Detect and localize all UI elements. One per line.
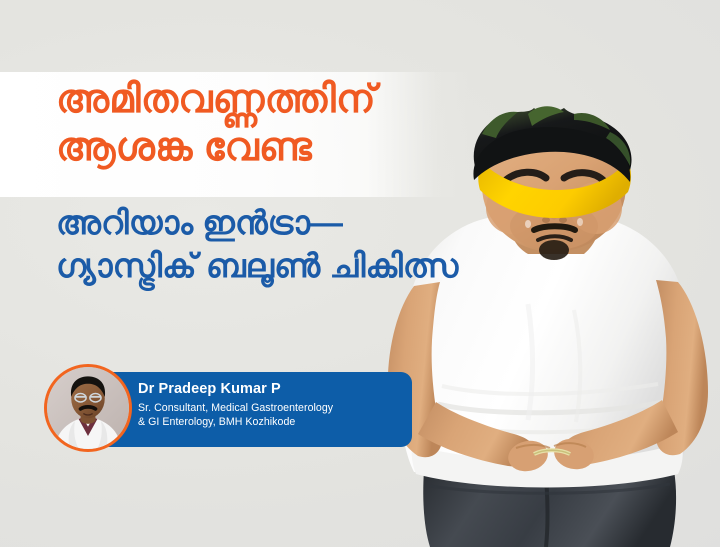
doctor-designation: Sr. Consultant, Medical Gastroenterology… xyxy=(138,402,398,430)
doctor-credit: Dr Pradeep Kumar P Sr. Consultant, Medic… xyxy=(44,364,412,454)
avatar xyxy=(44,364,132,452)
doctor-name: Dr Pradeep Kumar P xyxy=(138,381,398,398)
doctor-credit-card: Dr Pradeep Kumar P Sr. Consultant, Medic… xyxy=(88,372,412,447)
health-awareness-banner: അമിതവണ്ണത്തിന് ആശങ്ക വേണ്ട അറിയാം ഇൻട്രാ… xyxy=(0,0,720,547)
page-subtitle: അറിയാം ഇൻട്രാ— ഗ്യാസ്ട്രിക് ബലൂൺ ചികിത്സ xyxy=(56,202,526,288)
page-title: അമിതവണ്ണത്തിന് ആശങ്ക വേണ്ട xyxy=(56,76,476,171)
